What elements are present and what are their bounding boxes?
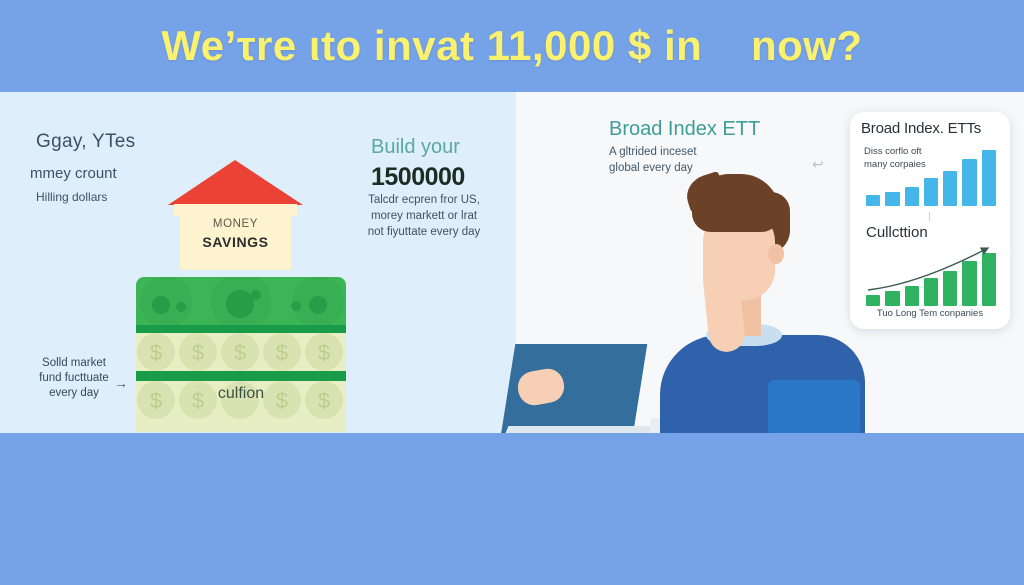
card-divider <box>929 212 930 221</box>
person-fist <box>703 256 743 294</box>
chart-note-line-2: many corpaies <box>864 158 974 171</box>
title-band: We’τre ιto invat 11,000 $ in now? <box>0 0 1024 92</box>
house-label-money: MONEY <box>168 218 303 230</box>
blue-bar-1 <box>866 195 880 206</box>
banknote-divider <box>136 325 346 333</box>
right-panel-heading: Broad Index ETT <box>609 118 760 141</box>
person-torso-side <box>768 380 860 435</box>
chart-card-note: Diss corflo oft many corpaies <box>864 145 974 171</box>
blue-bar-7 <box>982 150 996 206</box>
bottom-band <box>0 433 1024 585</box>
chart-card-footer: Tuo Long Tem conpanies <box>850 308 1010 319</box>
svg-text:$: $ <box>234 340 246 365</box>
right-arrow-icon: → <box>114 377 138 389</box>
chart-card-title: Broad Index. ETTs <box>861 120 981 137</box>
right-body-line-1: A gltrided inceset <box>609 144 769 160</box>
left-panel-heading: Ggay, YTes <box>36 131 135 153</box>
svg-text:$: $ <box>192 340 204 365</box>
money-savings-house-icon: MONEY SAVINGS <box>168 160 303 270</box>
left-annotation-line-2: fund fucttuate <box>28 371 120 386</box>
blue-bar-5 <box>943 171 957 206</box>
svg-text:$: $ <box>150 340 162 365</box>
chart-card: Broad Index. ETTs Diss corflo oft many c… <box>850 112 1010 329</box>
svg-text:$: $ <box>318 340 330 365</box>
person-ear <box>768 244 784 264</box>
blue-bar-2 <box>885 192 899 206</box>
left-panel-caption: Hilling dollars <box>36 190 107 204</box>
blue-bar-4 <box>924 178 938 206</box>
chart-note-line-1: Diss corflo oft <box>864 145 974 158</box>
house-roof <box>168 160 303 205</box>
left-panel-subheading: mmey crount <box>30 165 117 182</box>
middle-heading: Build your <box>371 136 460 159</box>
page-title: We’τre ιto invat 11,000 $ in now? <box>161 22 862 70</box>
left-annotation: Solld market fund fucttuate every day <box>28 356 120 401</box>
middle-body-line-2: morey markett or lrat <box>358 208 490 224</box>
left-annotation-line-1: Solld market <box>28 356 120 371</box>
banknote-pattern <box>136 277 346 327</box>
money-stack-label: culfion <box>136 385 346 403</box>
middle-body-line-1: Talcdr ecpren fror US, <box>358 192 490 208</box>
thinking-person-illustration <box>500 170 850 433</box>
coin-dollar-signs: $$$$$ $$$$ <box>136 333 346 432</box>
blue-bar-3 <box>905 187 919 206</box>
middle-amount: 1500000 <box>371 163 465 192</box>
infographic-canvas: We’τre ιto invat 11,000 $ in now? Ggay, … <box>0 0 1024 585</box>
middle-body: Talcdr ecpren fror US, morey markett or … <box>358 192 490 240</box>
left-annotation-line-3: every day <box>28 386 120 401</box>
money-stack-illustration: $$$$$ $$$$ culfion <box>136 277 346 432</box>
middle-body-line-3: not fiyuttate every day <box>358 224 490 240</box>
svg-text:$: $ <box>276 340 288 365</box>
trend-arrow-icon <box>862 238 1002 308</box>
house-label-savings: SAVINGS <box>168 234 303 250</box>
